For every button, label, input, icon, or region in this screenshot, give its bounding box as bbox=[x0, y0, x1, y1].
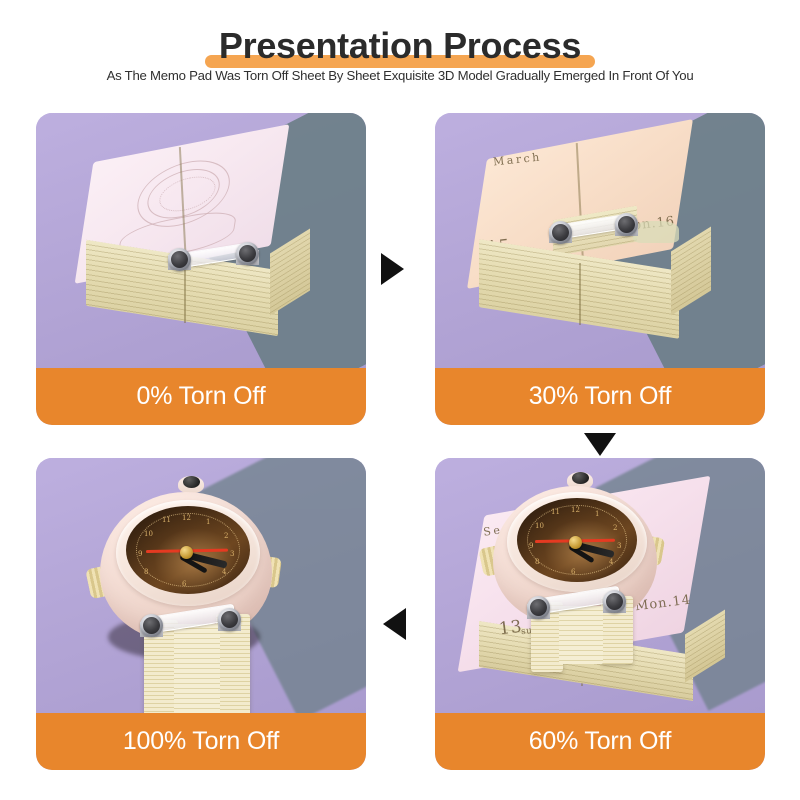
arrow-left-icon bbox=[383, 608, 406, 640]
caption-label: 60% Torn Off bbox=[529, 727, 672, 756]
paper-column-middle bbox=[559, 606, 603, 664]
caption-label: 100% Torn Off bbox=[123, 727, 279, 756]
pad-torn-edge bbox=[633, 221, 679, 243]
knob-left-icon bbox=[140, 614, 163, 637]
photo-100-percent: 12 1 2 3 4 6 8 9 10 11 bbox=[36, 458, 366, 713]
page-subtitle: As The Memo Pad Was Torn Off Sheet By Sh… bbox=[0, 66, 800, 86]
caption-0-percent: 0% Torn Off bbox=[36, 368, 366, 425]
clock-numeral: 8 bbox=[144, 568, 148, 576]
photo-30-percent: March 15 sun. Mon.16 bbox=[435, 113, 765, 368]
knob-left-icon bbox=[168, 248, 191, 271]
clock-numeral: 10 bbox=[144, 530, 153, 538]
pad-front-split bbox=[579, 263, 581, 325]
clock-model: 12 1 2 3 4 6 8 9 10 11 bbox=[475, 470, 695, 670]
clock-numeral: 12 bbox=[571, 506, 580, 514]
clock-numeral: 6 bbox=[571, 568, 575, 576]
header: Presentation Process As The Memo Pad Was… bbox=[0, 0, 800, 100]
knob-right-icon bbox=[615, 213, 638, 236]
clock-numeral: 4 bbox=[222, 568, 226, 576]
clock-model: 12 1 2 3 4 6 8 9 10 11 bbox=[86, 474, 316, 710]
clock-numeral: 6 bbox=[182, 580, 186, 588]
knob-right-icon bbox=[236, 242, 259, 265]
clock-numeral: 3 bbox=[230, 550, 234, 558]
clock-top-button-icon bbox=[183, 476, 200, 488]
panel-0-percent[interactable]: 0% Torn Off bbox=[36, 113, 366, 425]
arrow-right-icon bbox=[381, 253, 404, 285]
caption-100-percent: 100% Torn Off bbox=[36, 713, 366, 770]
photo-0-percent bbox=[36, 113, 366, 368]
knob-right-icon bbox=[218, 608, 241, 631]
clock-wire bbox=[162, 704, 188, 713]
clock-center-pin bbox=[569, 536, 582, 549]
memo-pad-block bbox=[64, 145, 260, 341]
panel-100-percent[interactable]: 12 1 2 3 4 6 8 9 10 11 bbox=[36, 458, 366, 770]
clock-numeral: 9 bbox=[529, 542, 533, 550]
caption-label: 0% Torn Off bbox=[137, 382, 266, 411]
clock-numeral: 12 bbox=[182, 514, 191, 522]
page-title: Presentation Process bbox=[0, 24, 800, 68]
knob-right-icon bbox=[603, 590, 626, 613]
paper-column-middle bbox=[174, 624, 220, 713]
clock-numeral: 11 bbox=[551, 508, 560, 516]
page-title-wrap: Presentation Process bbox=[0, 24, 800, 70]
panel-60-percent[interactable]: September 13 sun. Mon.14 12 1 2 3 bbox=[435, 458, 765, 770]
clock-face: 12 1 2 3 4 6 8 9 10 11 bbox=[126, 506, 250, 594]
knob-left-icon bbox=[527, 596, 550, 619]
clock-numeral: 11 bbox=[162, 516, 171, 524]
clock-center-pin bbox=[180, 546, 193, 559]
caption-30-percent: 30% Torn Off bbox=[435, 368, 765, 425]
panel-30-percent[interactable]: March 15 sun. Mon.16 bbox=[435, 113, 765, 425]
photo-60-percent: September 13 sun. Mon.14 12 1 2 3 bbox=[435, 458, 765, 713]
arrow-down-icon bbox=[584, 433, 616, 456]
clock-numeral: 9 bbox=[138, 550, 142, 558]
infographic-page: Presentation Process As The Memo Pad Was… bbox=[0, 0, 800, 800]
clock-numeral: 3 bbox=[617, 542, 621, 550]
clock-top-button-icon bbox=[572, 472, 589, 484]
clock-numeral: 4 bbox=[609, 558, 613, 566]
clock-numeral: 8 bbox=[535, 558, 539, 566]
memo-pad-block: March 15 sun. Mon.16 bbox=[457, 141, 653, 337]
clock-numeral: 2 bbox=[613, 524, 617, 532]
clock-numeral: 10 bbox=[535, 522, 544, 530]
clock-numeral: 1 bbox=[595, 510, 599, 518]
clock-numeral: 2 bbox=[224, 532, 228, 540]
knob-left-icon bbox=[549, 221, 572, 244]
caption-60-percent: 60% Torn Off bbox=[435, 713, 765, 770]
caption-label: 30% Torn Off bbox=[529, 382, 672, 411]
pad-front-split bbox=[184, 261, 186, 323]
clock-face: 12 1 2 3 4 6 8 9 10 11 bbox=[517, 498, 637, 582]
clock-numeral: 1 bbox=[206, 518, 210, 526]
